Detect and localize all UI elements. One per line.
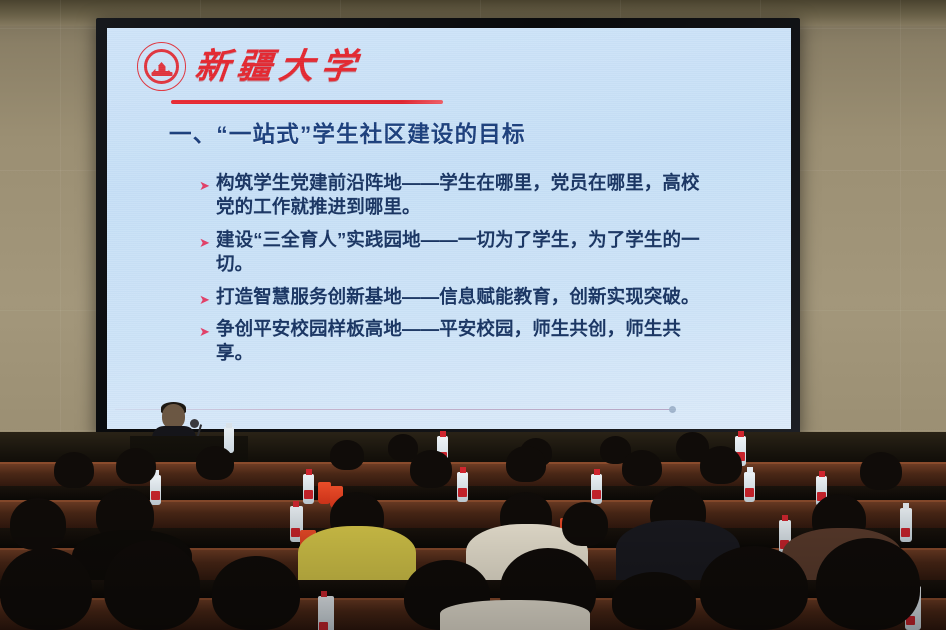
audience-head (104, 540, 200, 630)
audience-head (54, 452, 94, 488)
lecture-hall-room: 新疆大学 一、“一站式”学生社区建设的目标 ➤ 构筑学生党建前沿阵地——学生在哪… (0, 0, 946, 630)
list-item: ➤ 建设“三全育人”实践园地——一切为了学生，为了学生的一切。 (199, 228, 709, 277)
audience-head (330, 440, 364, 470)
list-item: ➤ 打造智慧服务创新基地——信息赋能教育，创新实现突破。 (199, 285, 709, 309)
slide-title: 一、“一站式”学生社区建设的目标 (169, 117, 526, 149)
audience-head (10, 498, 66, 550)
audience-head (622, 450, 662, 486)
slide-canvas: 新疆大学 一、“一站式”学生社区建设的目标 ➤ 构筑学生党建前沿阵地——学生在哪… (107, 28, 791, 429)
water-bottle (591, 474, 602, 504)
slide-footer-dot (669, 406, 676, 413)
water-bottle (150, 475, 161, 505)
slide-footer-rule (115, 409, 675, 410)
audience-head (116, 448, 156, 484)
audience-head (700, 446, 742, 484)
audience-head (612, 572, 696, 630)
presentation-screen: 新疆大学 一、“一站式”学生社区建设的目标 ➤ 构筑学生党建前沿阵地——学生在哪… (96, 18, 800, 438)
microphone-icon (190, 419, 199, 428)
water-bottle (303, 474, 314, 504)
water-bottle (457, 472, 468, 502)
audience-torso (440, 600, 590, 630)
arrow-bullet-icon: ➤ (199, 293, 216, 306)
header-red-rule (171, 100, 443, 104)
bullet-text: 建设“三全育人”实践园地——一切为了学生，为了学生的一切。 (216, 228, 709, 277)
audience-head (410, 450, 452, 488)
slide-bullet-list: ➤ 构筑学生党建前沿阵地——学生在哪里，党员在哪里，高校党的工作就推进到哪里。 … (199, 171, 709, 374)
audience-head (506, 446, 546, 482)
arrow-bullet-icon: ➤ (199, 179, 216, 192)
audience-head (212, 556, 300, 630)
university-seal-icon (137, 42, 186, 91)
audience-head (562, 502, 608, 546)
arrow-bullet-icon: ➤ (199, 236, 216, 249)
university-wordmark: 新疆大学 (193, 49, 365, 84)
audience-torso (298, 526, 416, 584)
water-bottle (318, 596, 334, 630)
water-bottle (744, 472, 755, 502)
bullet-text: 争创平安校园样板高地——平安校园，师生共创，师生共享。 (216, 317, 709, 366)
bullet-text: 打造智慧服务创新基地——信息赋能教育，创新实现突破。 (216, 285, 700, 309)
audience-head (860, 452, 902, 490)
arrow-bullet-icon: ➤ (199, 325, 216, 338)
slide-branding: 新疆大学 (137, 42, 363, 91)
audience-head (0, 548, 92, 630)
bullet-text: 构筑学生党建前沿阵地——学生在哪里，党员在哪里，高校党的工作就推进到哪里。 (216, 171, 709, 220)
audience-head (816, 538, 920, 630)
list-item: ➤ 争创平安校园样板高地——平安校园，师生共创，师生共享。 (199, 317, 709, 366)
water-bottle (900, 508, 912, 542)
audience-head (196, 446, 234, 480)
audience-head (700, 546, 808, 630)
list-item: ➤ 构筑学生党建前沿阵地——学生在哪里，党员在哪里，高校党的工作就推进到哪里。 (199, 171, 709, 220)
